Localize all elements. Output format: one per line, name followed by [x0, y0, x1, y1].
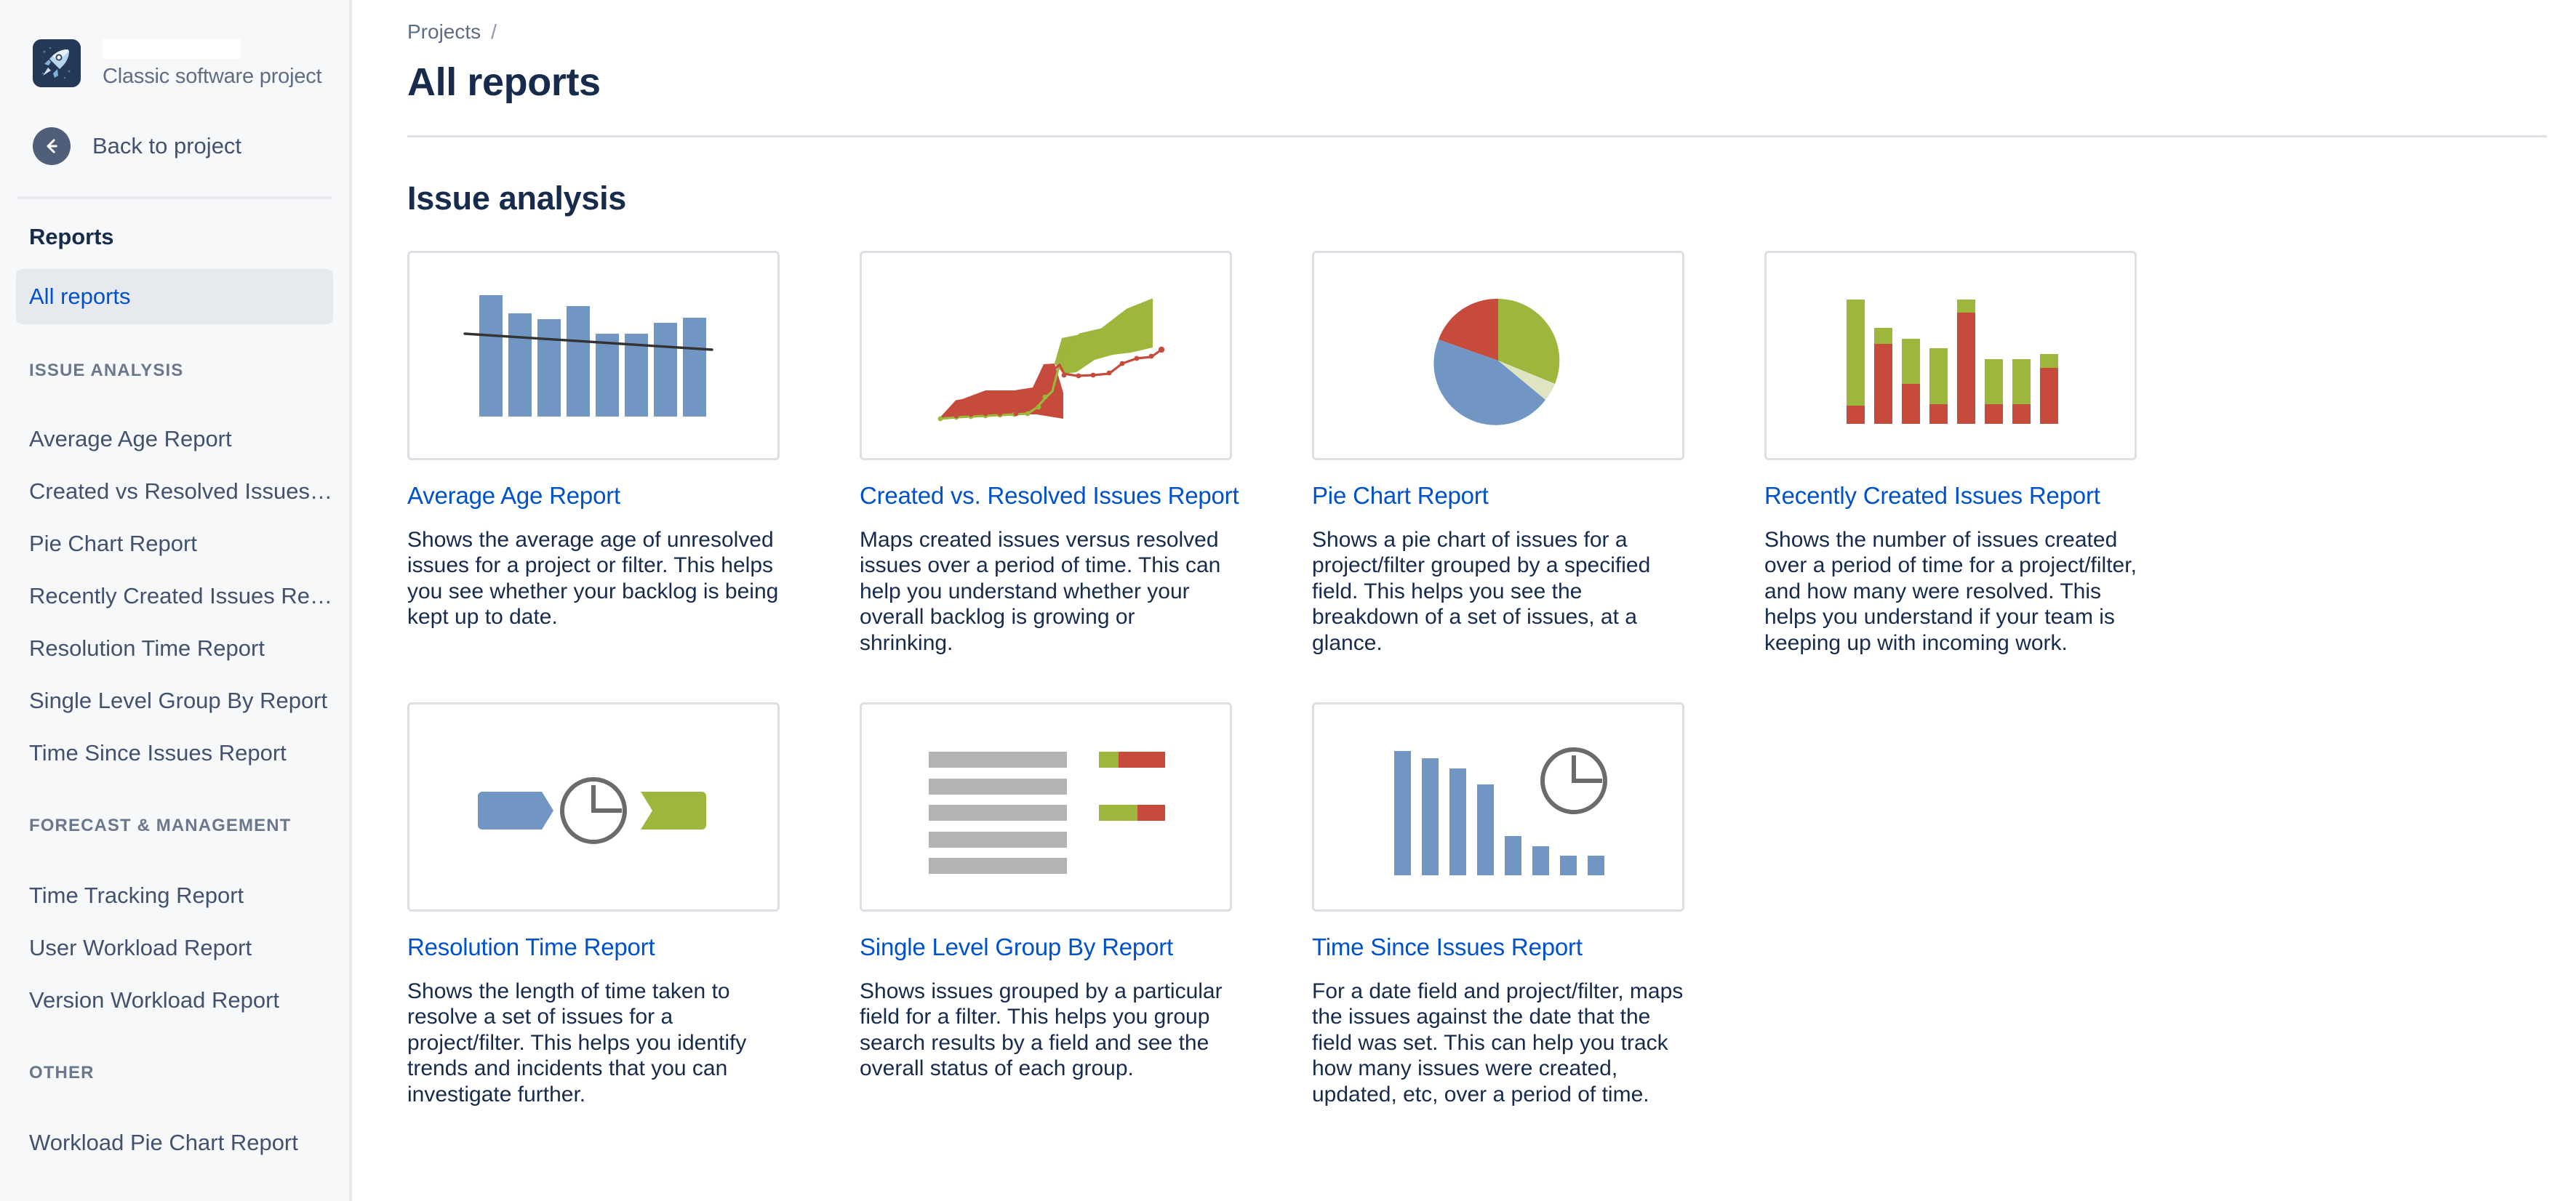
report-card-description: Shows the average age of unresolved issu… — [407, 527, 780, 630]
section-title-issue-analysis: Issue analysis — [407, 180, 2576, 217]
project-type-label: Classic software project — [103, 65, 321, 89]
sidebar-item-created-vs-resolved[interactable]: Created vs Resolved Issues R... — [0, 465, 349, 518]
report-card-recently-created: Recently Created Issues Report Shows the… — [1764, 251, 2217, 656]
sidebar-item-label: Resolution Time Report — [29, 635, 265, 662]
report-card-average-age: Average Age Report Shows the average age… — [407, 251, 860, 656]
sidebar-item-label: Workload Pie Chart Report — [29, 1130, 298, 1156]
breadcrumb-separator: / — [491, 20, 497, 44]
report-card-description: Shows the number of issues created over … — [1764, 527, 2137, 656]
sidebar-heading: Reports — [0, 199, 349, 250]
sidebar: Classic software project Back to project… — [0, 0, 352, 1201]
report-card-created-vs-resolved: Created vs. Resolved Issues Report Maps … — [860, 251, 1312, 656]
page-title: All reports — [407, 60, 2576, 105]
sidebar-item-version-workload-report[interactable]: Version Workload Report — [0, 974, 349, 1027]
sidebar-item-workload-pie-chart-report[interactable]: Workload Pie Chart Report — [0, 1117, 349, 1169]
back-to-project-button[interactable]: Back to project — [0, 124, 349, 169]
report-card-title[interactable]: Created vs. Resolved Issues Report — [860, 482, 1312, 510]
sidebar-item-user-workload-report[interactable]: User Workload Report — [0, 922, 349, 974]
sidebar-item-label: Average Age Report — [29, 426, 232, 452]
report-card-description: Maps created issues versus resolved issu… — [860, 527, 1232, 656]
report-card-title[interactable]: Single Level Group By Report — [860, 933, 1312, 961]
report-card-description: Shows a pie chart of issues for a projec… — [1312, 527, 1684, 656]
resolution-time-thumbnail[interactable] — [407, 702, 780, 912]
sidebar-group-forecast-management: FORECAST & MANAGEMENT — [0, 816, 349, 836]
sidebar-item-recently-created-issues[interactable]: Recently Created Issues Report — [0, 570, 349, 622]
sidebar-item-label: Version Workload Report — [29, 987, 279, 1013]
breadcrumb: Projects / — [407, 0, 2576, 44]
main-content: Projects / All reports Issue analysis — [352, 0, 2576, 1201]
sidebar-item-label: User Workload Report — [29, 935, 252, 961]
reports-page: Classic software project Back to project… — [0, 0, 2576, 1201]
single-level-group-by-thumbnail[interactable] — [860, 702, 1232, 912]
reports-grid-row-1: Average Age Report Shows the average age… — [407, 251, 2576, 656]
report-card-description: Shows issues grouped by a particular fie… — [860, 979, 1232, 1082]
sidebar-group-other: OTHER — [0, 1063, 349, 1083]
sidebar-item-resolution-time-report[interactable]: Resolution Time Report — [0, 622, 349, 675]
breadcrumb-projects-link[interactable]: Projects — [407, 20, 481, 44]
report-card-description: Shows the length of time taken to resolv… — [407, 979, 780, 1107]
sidebar-item-all-reports-label: All reports — [29, 284, 131, 310]
sidebar-item-single-level-group-by[interactable]: Single Level Group By Report — [0, 675, 349, 727]
sidebar-item-label: Recently Created Issues Report — [29, 583, 335, 609]
created-vs-resolved-thumbnail[interactable] — [860, 251, 1232, 460]
blue-chevron — [478, 792, 553, 830]
title-divider — [407, 135, 2547, 137]
reports-grid-row-2: Resolution Time Report Shows the length … — [407, 702, 2576, 1107]
report-card-title[interactable]: Pie Chart Report — [1312, 482, 1764, 510]
sidebar-item-all-reports[interactable]: All reports — [16, 269, 333, 324]
project-name-placeholder — [103, 39, 241, 59]
sidebar-item-average-age-report[interactable]: Average Age Report — [0, 413, 349, 465]
rocket-icon — [33, 39, 81, 87]
report-card-title[interactable]: Time Since Issues Report — [1312, 933, 1764, 961]
sidebar-group-issue-analysis: ISSUE ANALYSIS — [0, 361, 349, 381]
sidebar-item-pie-chart-report[interactable]: Pie Chart Report — [0, 518, 349, 570]
report-card-description: For a date field and project/filter, map… — [1312, 979, 1684, 1107]
green-chevron — [641, 792, 706, 830]
sidebar-item-time-tracking-report[interactable]: Time Tracking Report — [0, 869, 349, 922]
arrow-left-icon — [33, 127, 71, 165]
time-since-issues-thumbnail[interactable] — [1312, 702, 1684, 912]
project-header: Classic software project — [0, 0, 349, 93]
project-meta: Classic software project — [103, 39, 321, 89]
average-age-thumbnail[interactable] — [407, 251, 780, 460]
pie-chart-thumbnail[interactable] — [1312, 251, 1684, 460]
recently-created-thumbnail[interactable] — [1764, 251, 2137, 460]
report-card-single-level-group-by: Single Level Group By Report Shows issue… — [860, 702, 1312, 1107]
sidebar-item-label: Single Level Group By Report — [29, 688, 327, 714]
sidebar-item-label: Pie Chart Report — [29, 531, 197, 557]
sidebar-item-label: Time Tracking Report — [29, 883, 244, 909]
sidebar-item-label: Time Since Issues Report — [29, 740, 287, 766]
sidebar-item-time-since-issues[interactable]: Time Since Issues Report — [0, 727, 349, 779]
back-to-project-label: Back to project — [92, 133, 241, 159]
sidebar-item-label: Created vs Resolved Issues R... — [29, 478, 335, 505]
report-card-title[interactable]: Resolution Time Report — [407, 933, 860, 961]
report-card-time-since-issues: Time Since Issues Report For a date fiel… — [1312, 702, 1764, 1107]
report-card-title[interactable]: Average Age Report — [407, 482, 860, 510]
report-card-pie-chart: Pie Chart Report Shows a pie chart of is… — [1312, 251, 1764, 656]
report-card-resolution-time: Resolution Time Report Shows the length … — [407, 702, 860, 1107]
report-card-title[interactable]: Recently Created Issues Report — [1764, 482, 2217, 510]
